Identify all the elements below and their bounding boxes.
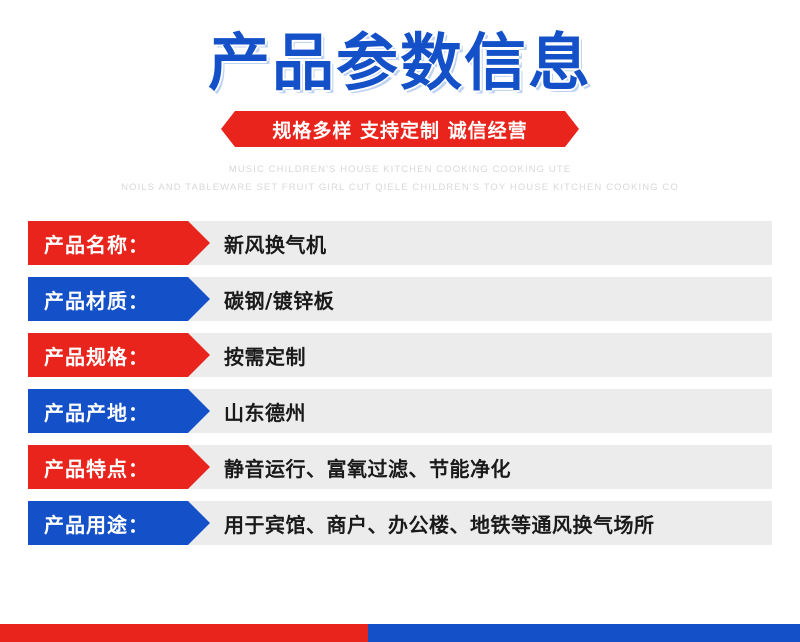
spec-value: 静音运行、富氧过滤、节能净化 xyxy=(182,445,772,489)
latin-caption-line-2: NOILS AND TABLEWARE SET FRUIT GIRL CUT Q… xyxy=(0,179,800,197)
spec-row: 产品产地： 山东德州 xyxy=(28,389,772,433)
spec-row: 产品名称： 新风换气机 xyxy=(28,221,772,265)
spec-value: 用于宾馆、商户、办公楼、地铁等通风换气场所 xyxy=(182,501,772,545)
spec-label: 产品产地： xyxy=(28,389,188,433)
spec-row: 产品特点： 静音运行、富氧过滤、节能净化 xyxy=(28,445,772,489)
footer-color-bar xyxy=(0,624,800,642)
spec-value: 新风换气机 xyxy=(182,221,772,265)
page-title: 产品参数信息 xyxy=(0,30,800,95)
footer-bar-blue-segment xyxy=(368,624,800,642)
footer-bar-red-segment xyxy=(0,624,368,642)
spec-row: 产品规格： 按需定制 xyxy=(28,333,772,377)
spec-label: 产品特点： xyxy=(28,445,188,489)
spec-value: 山东德州 xyxy=(182,389,772,433)
page-header: 产品参数信息 规格多样 支持定制 诚信经营 MUSIC CHILDREN'S H… xyxy=(0,0,800,197)
spec-label: 产品规格： xyxy=(28,333,188,377)
latin-caption-block: MUSIC CHILDREN'S HOUSE KITCHEN COOKING C… xyxy=(0,161,800,197)
spec-value: 按需定制 xyxy=(182,333,772,377)
spec-value: 碳钢/镀锌板 xyxy=(182,277,772,321)
spec-label: 产品材质： xyxy=(28,277,188,321)
product-spec-page: 产品参数信息 规格多样 支持定制 诚信经营 MUSIC CHILDREN'S H… xyxy=(0,0,800,642)
spec-list: 产品名称： 新风换气机 产品材质： 碳钢/镀锌板 产品规格： 按需定制 产品产地… xyxy=(0,221,800,545)
spec-row: 产品材质： 碳钢/镀锌板 xyxy=(28,277,772,321)
spec-label: 产品用途： xyxy=(28,501,188,545)
spec-label: 产品名称： xyxy=(28,221,188,265)
spec-row: 产品用途： 用于宾馆、商户、办公楼、地铁等通风换气场所 xyxy=(28,501,772,545)
subtitle-banner: 规格多样 支持定制 诚信经营 xyxy=(235,111,565,147)
subtitle-text: 规格多样 支持定制 诚信经营 xyxy=(272,116,527,143)
latin-caption-line-1: MUSIC CHILDREN'S HOUSE KITCHEN COOKING C… xyxy=(0,161,800,179)
